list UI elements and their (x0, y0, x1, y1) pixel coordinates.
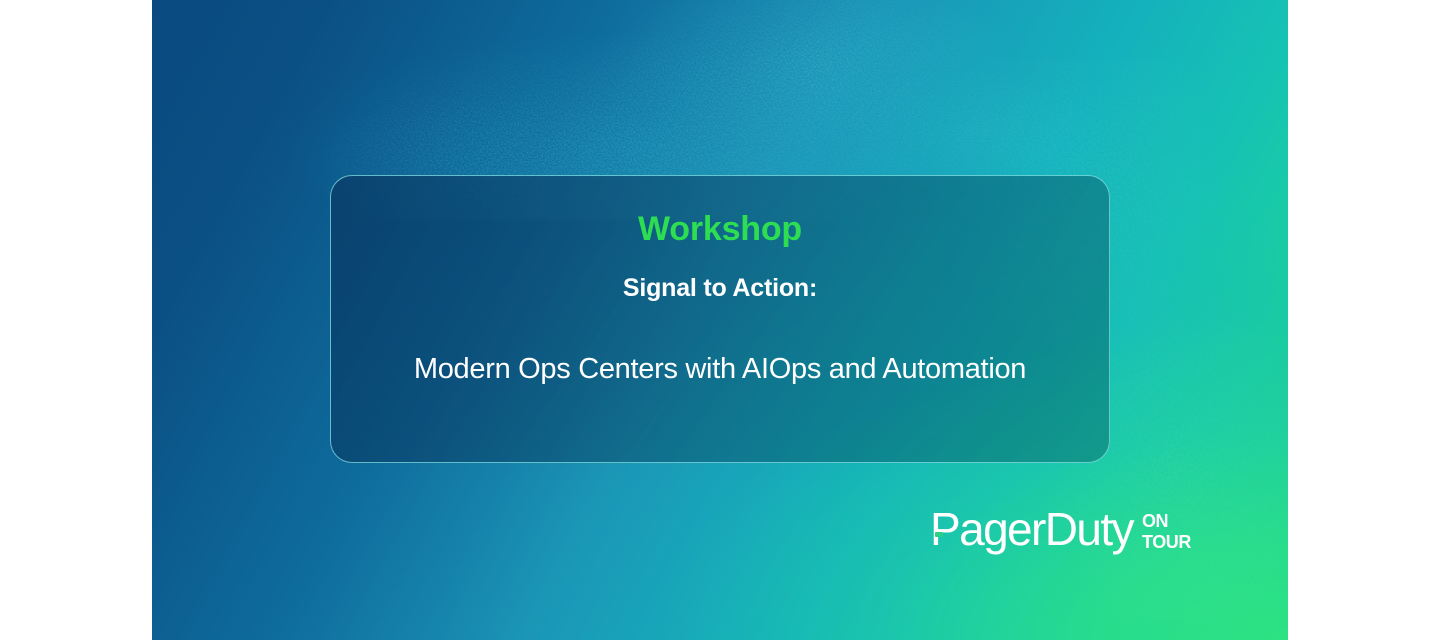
pagerduty-on-tour-logo: PagerDuty ON TOUR (930, 506, 1191, 562)
session-type-label: Workshop (638, 212, 802, 248)
on-tour-line-1: ON (1142, 512, 1168, 530)
session-description: Modern Ops Centers with AIOps and Automa… (414, 353, 1026, 386)
title-card: Workshop Signal to Action: Modern Ops Ce… (330, 175, 1110, 463)
on-tour-lockup: ON TOUR (1142, 512, 1191, 551)
presentation-slide: Workshop Signal to Action: Modern Ops Ce… (152, 0, 1288, 640)
session-title: Signal to Action: (623, 274, 817, 303)
on-tour-line-2: TOUR (1142, 533, 1191, 551)
slide-stage: Workshop Signal to Action: Modern Ops Ce… (0, 0, 1439, 640)
pagerduty-p-notch-icon (935, 532, 943, 537)
pagerduty-wordmark: PagerDuty (930, 506, 1133, 552)
